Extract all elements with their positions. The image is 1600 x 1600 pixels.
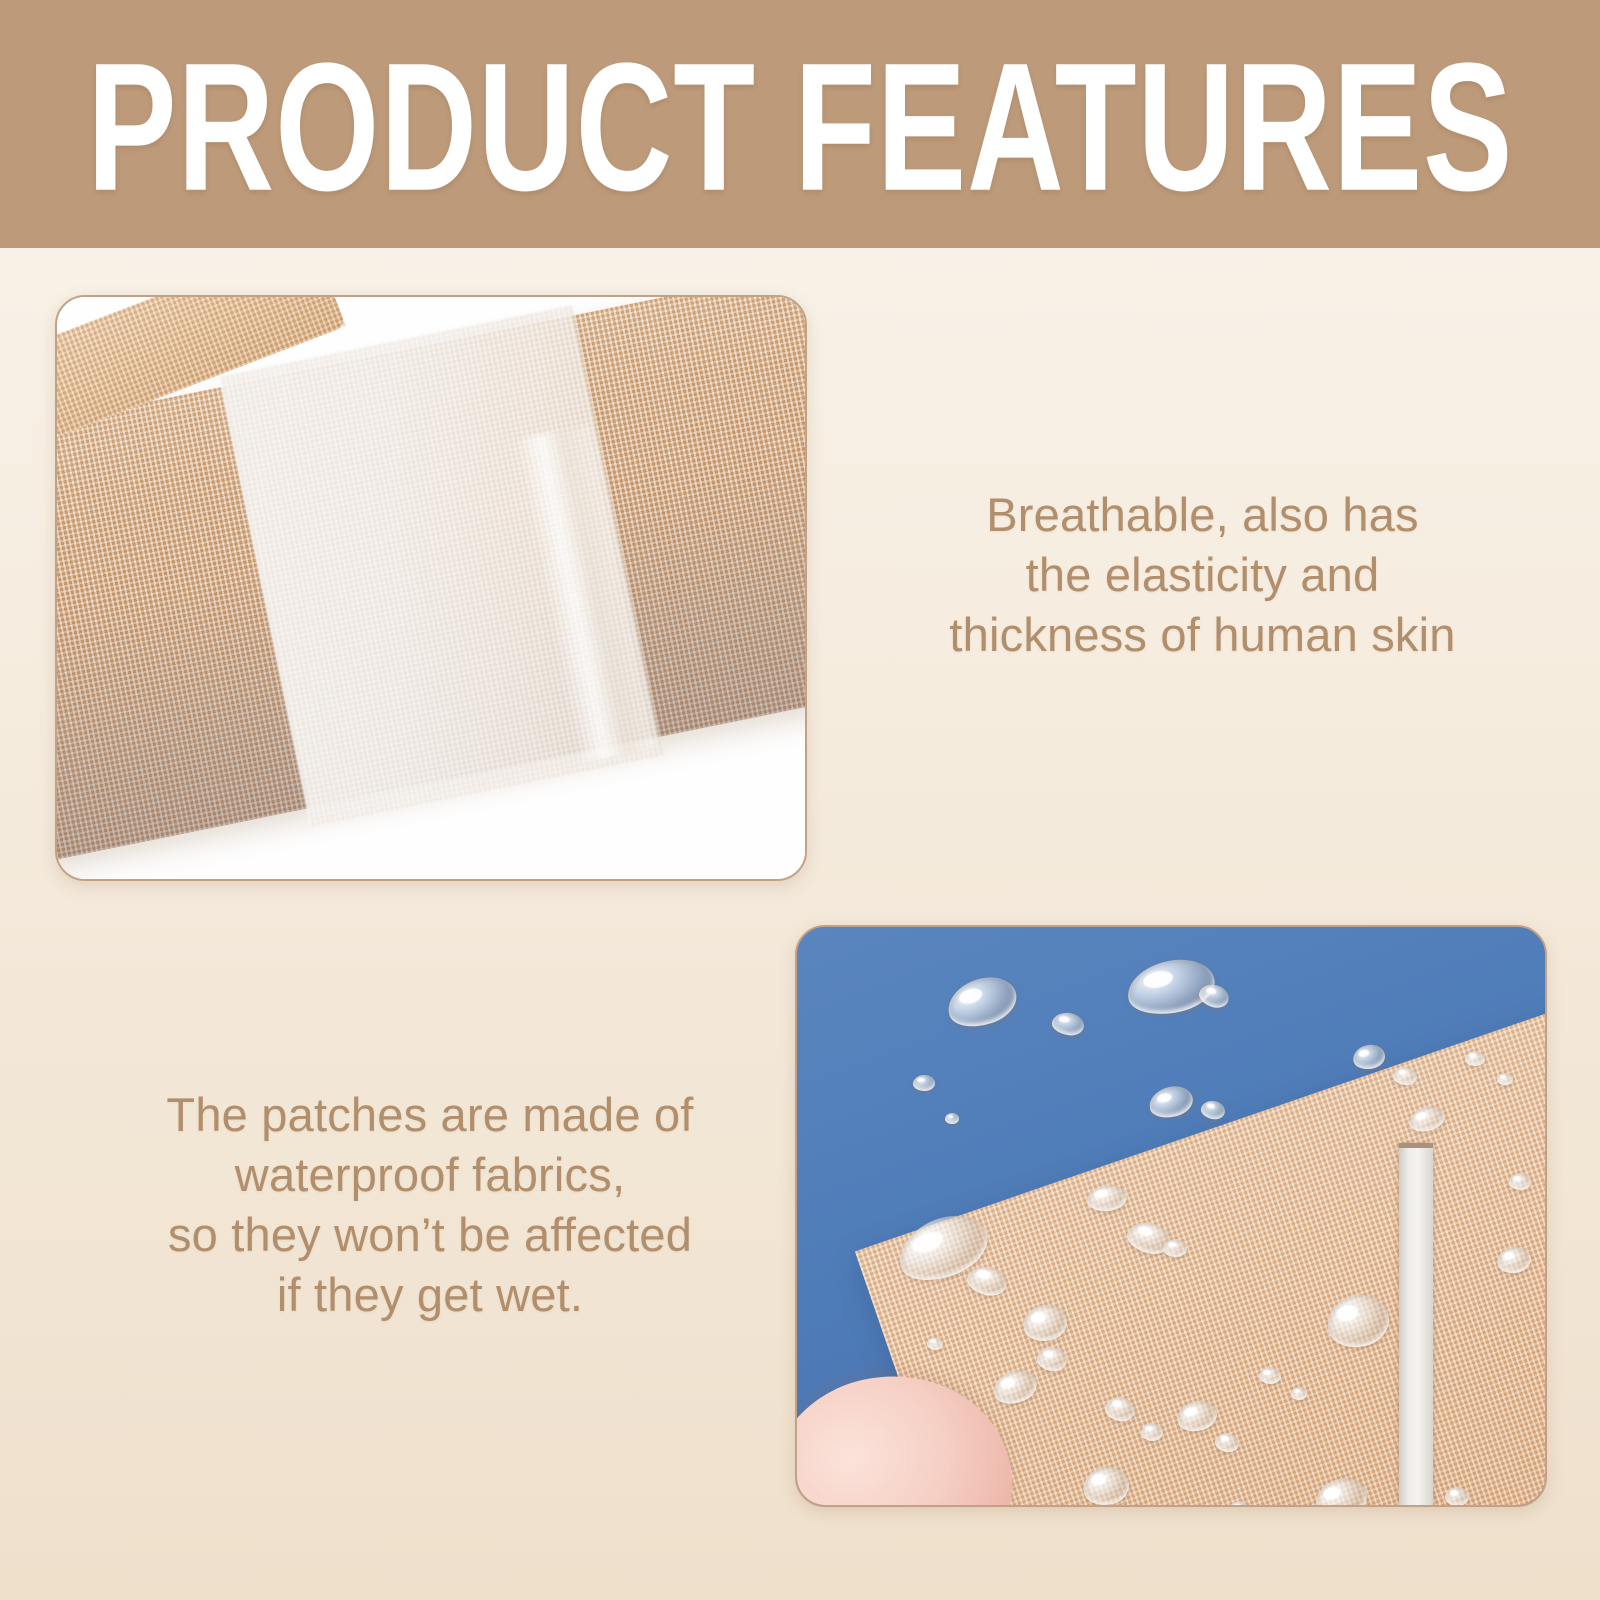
- water-droplet: [1050, 1010, 1085, 1037]
- feature-text-line: so they won’t be affected: [55, 1205, 805, 1265]
- feature-image-waterproof: [795, 925, 1547, 1507]
- water-droplet: [1495, 1244, 1533, 1276]
- water-droplet: [1465, 1051, 1485, 1066]
- page-title: PRODUCT FEATURES: [87, 41, 1513, 206]
- water-droplet: [1080, 1463, 1132, 1507]
- feature-text-breathable: Breathable, also has the elasticity and …: [830, 485, 1575, 665]
- water-droplet: [1509, 1173, 1531, 1190]
- water-droplet: [942, 969, 1023, 1034]
- water-droplet: [1497, 1073, 1513, 1085]
- water-droplet: [1214, 1431, 1241, 1454]
- backing-strip: [1399, 1143, 1433, 1507]
- water-droplet: [1103, 1394, 1137, 1424]
- header-banner: PRODUCT FEATURES: [0, 0, 1600, 248]
- water-droplet: [1310, 1473, 1371, 1507]
- waterproof-patch-image: [797, 927, 1545, 1505]
- water-droplet: [913, 1075, 935, 1091]
- water-droplet: [1351, 1042, 1387, 1071]
- water-droplet: [1141, 1423, 1163, 1441]
- water-droplet: [1259, 1367, 1281, 1384]
- feature-text-line: Breathable, also has: [830, 485, 1575, 545]
- feature-text-line: if they get wet.: [55, 1265, 805, 1325]
- water-droplet: [989, 1365, 1041, 1409]
- feature-text-line: the elasticity and: [830, 545, 1575, 605]
- water-droplet: [1445, 1487, 1469, 1506]
- feature-text-line: thickness of human skin: [830, 605, 1575, 665]
- water-droplet: [927, 1337, 943, 1350]
- water-droplet: [1174, 1397, 1220, 1436]
- water-droplet: [1229, 1501, 1249, 1507]
- feature-text-waterproof: The patches are made of waterproof fabri…: [55, 1085, 805, 1326]
- water-droplet: [1035, 1345, 1068, 1373]
- feature-text-line: waterproof fabrics,: [55, 1145, 805, 1205]
- water-droplet: [1392, 1065, 1418, 1086]
- water-droplet: [1199, 1099, 1226, 1122]
- water-droplet: [945, 1113, 959, 1124]
- water-droplet: [1085, 1182, 1128, 1213]
- feature-text-line: The patches are made of: [55, 1085, 805, 1145]
- backing-strip-edge: [1399, 1143, 1433, 1148]
- bandage-weave-closeup-image: [57, 297, 805, 879]
- feature-image-breathable: [55, 295, 807, 881]
- water-droplet: [1146, 1082, 1196, 1122]
- water-droplet: [1322, 1288, 1395, 1353]
- water-droplet: [1020, 1301, 1070, 1344]
- water-droplet: [964, 1263, 1010, 1300]
- water-droplet: [1163, 1239, 1187, 1257]
- water-droplet: [1406, 1103, 1447, 1136]
- water-droplet: [1291, 1387, 1307, 1400]
